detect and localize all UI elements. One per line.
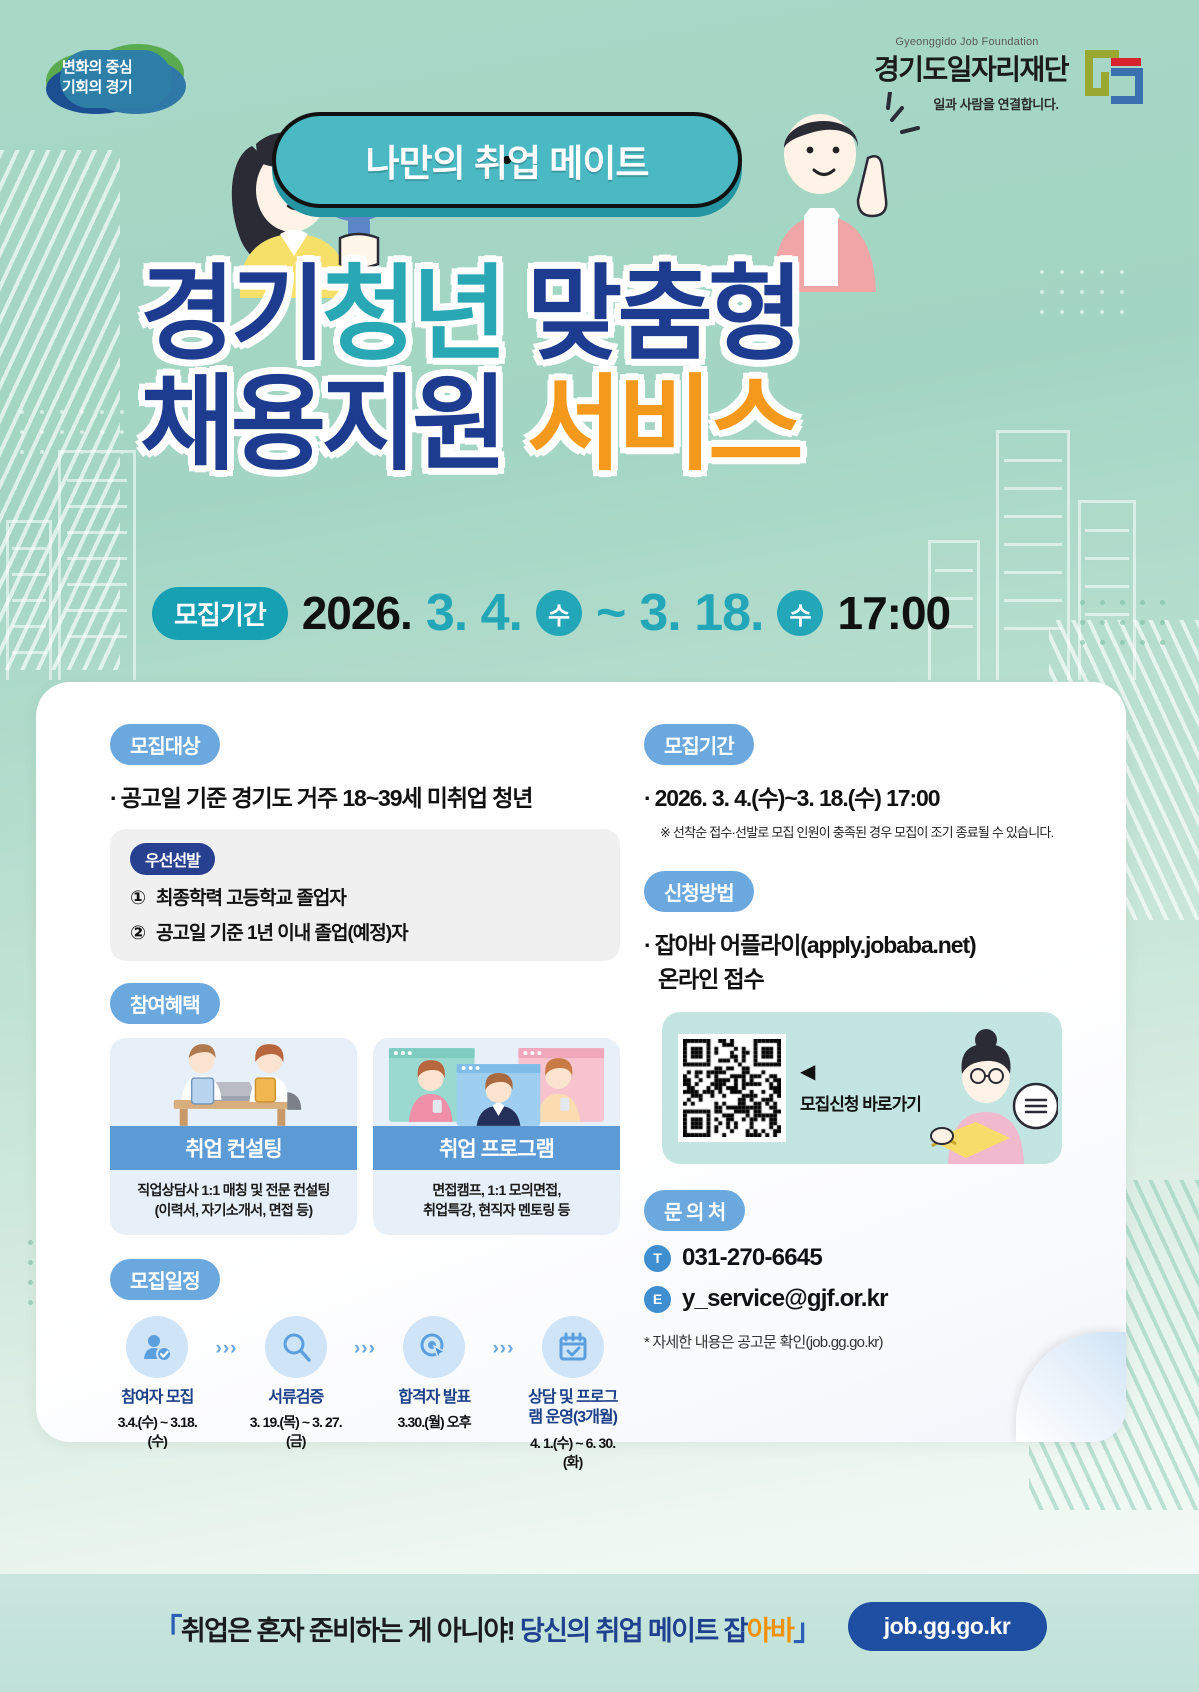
schedule-step-date: 4. 1.(수) ~ 6. 30.(화) bbox=[525, 1434, 620, 1472]
qr-caption: ◀ 모집신청 바로가기 bbox=[800, 1062, 921, 1115]
footer-brand-aba: 아바 bbox=[747, 1616, 793, 1646]
schedule-step-date: 3.30.(월) 오후 bbox=[387, 1413, 482, 1432]
email-icon: E bbox=[644, 1286, 671, 1313]
contact-email-row: E y_service@gjf.or.kr bbox=[644, 1285, 1094, 1313]
headline-speech-bubble: 나만의 취업 메이트 bbox=[272, 112, 742, 208]
benefit-caption-line-1: 직업상담사 1:1 매칭 및 전문 컨설팅 bbox=[116, 1180, 351, 1200]
schedule-step-name: 상담 및 프로그램 운영(3개월) bbox=[525, 1388, 620, 1430]
qr-application-box[interactable]: ◀ 모집신청 바로가기 bbox=[662, 1012, 1062, 1164]
foundation-name-en: Gyeonggido Job Foundation bbox=[841, 36, 1093, 48]
magnifier-icon bbox=[265, 1316, 327, 1378]
schedule-arrow-icon: ››› bbox=[205, 1316, 249, 1360]
apply-bullet: ·잡아바 어플라이(apply.jobaba.net) 온라인 접수 bbox=[644, 926, 1094, 994]
title-part-service: 서비스 bbox=[527, 367, 799, 483]
period-tilde: ~ bbox=[596, 583, 625, 643]
schedule-arrow-icon: ››› bbox=[343, 1316, 387, 1360]
consulting-illustration bbox=[110, 1038, 357, 1126]
period-bullet-text: 2026. 3. 4.(수)~3. 18.(수) 17:00 bbox=[655, 785, 940, 811]
left-column: 모집대상 ·공고일 기준 경기도 거주 18~39세 미취업 청년 우선선발 ①… bbox=[110, 724, 620, 1472]
section-tag-target: 모집대상 bbox=[110, 724, 220, 765]
contact-phone-value: 031-270-6645 bbox=[682, 1244, 822, 1272]
period-start-date: 3. 4. bbox=[426, 583, 522, 643]
foundation-mark-icon bbox=[1081, 46, 1147, 108]
gyeonggi-logo-text: 변화의 중심 기회의 경기 bbox=[62, 58, 132, 99]
period-bullet: ·2026. 3. 4.(수)~3. 18.(수) 17:00 bbox=[644, 779, 1094, 813]
quote-open-mark: 「 bbox=[152, 1614, 180, 1647]
title-line-2: 채용지원 서비스 bbox=[140, 375, 1020, 477]
contact-phone-row: T 031-270-6645 bbox=[644, 1244, 1094, 1272]
schedule-step-name: 참여자 모집 bbox=[110, 1388, 205, 1409]
qr-code[interactable] bbox=[678, 1034, 786, 1142]
priority-item-number: ① bbox=[130, 887, 156, 910]
priority-item-text: 공고일 기준 1년 이내 졸업(예정)자 bbox=[156, 923, 408, 944]
poster-footer: 「취업은 혼자 준비하는 게 아니야! 당신의 취업 메이트 잡아바」 job.… bbox=[0, 1574, 1199, 1692]
section-tag-period: 모집기간 bbox=[644, 724, 754, 765]
target-cursor-icon bbox=[403, 1316, 465, 1378]
target-bullet-text: 공고일 기준 경기도 거주 18~39세 미취업 청년 bbox=[121, 785, 533, 811]
benefit-caption-line-2: (이력서, 자기소개서, 면접 등) bbox=[116, 1200, 351, 1220]
footer-slogan-part1: 취업은 혼자 준비하는 게 아니야! bbox=[181, 1616, 514, 1646]
title-part-gyeonggi: 경기 bbox=[140, 257, 321, 373]
period-note: ※ 선착순 접수·선발로 모집 인원이 충족된 경우 모집이 조기 종료될 수 … bbox=[644, 822, 1094, 841]
schedule-step-date: 3.4.(수) ~ 3.18.(수) bbox=[110, 1413, 205, 1451]
section-tag-priority: 우선선발 bbox=[130, 843, 215, 875]
period-time: 17:00 bbox=[837, 586, 950, 640]
schedule-step-name: 합격자 발표 bbox=[387, 1388, 482, 1409]
apply-section: 신청방법 ·잡아바 어플라이(apply.jobaba.net) 온라인 접수 … bbox=[644, 871, 1094, 1164]
schedule-step-name: 서류검증 bbox=[248, 1388, 343, 1409]
right-column: 모집기간 ·2026. 3. 4.(수)~3. 18.(수) 17:00 ※ 선… bbox=[644, 724, 1094, 1352]
title-line-1: 경기청년 맞춤형 bbox=[140, 265, 1020, 367]
schedule-step: 참여자 모집 3.4.(수) ~ 3.18.(수) bbox=[110, 1316, 205, 1452]
schedule-step: 상담 및 프로그램 운영(3개월) 4. 1.(수) ~ 6. 30.(화) bbox=[525, 1316, 620, 1472]
priority-item-number: ② bbox=[130, 922, 156, 945]
contact-email-value: y_service@gjf.or.kr bbox=[682, 1285, 888, 1313]
content-card: 모집대상 ·공고일 기준 경기도 거주 18~39세 미취업 청년 우선선발 ①… bbox=[36, 682, 1126, 1442]
section-tag-apply: 신청방법 bbox=[644, 871, 754, 912]
qr-label: 모집신청 바로가기 bbox=[800, 1090, 921, 1115]
calendar-check-icon bbox=[542, 1316, 604, 1378]
target-bullet: ·공고일 기준 경기도 거주 18~39세 미취업 청년 bbox=[110, 779, 620, 813]
footer-slogan: 「취업은 혼자 준비하는 게 아니야! 당신의 취업 메이트 잡아바」 bbox=[152, 1605, 821, 1649]
title-part-custom: 맞춤형 bbox=[503, 257, 799, 373]
benefits-section: 참여혜택 bbox=[110, 983, 620, 1235]
priority-item: ①최종학력 고등학교 졸업자 bbox=[130, 883, 600, 910]
user-check-icon bbox=[126, 1316, 188, 1378]
period-year: 2026. bbox=[302, 586, 412, 640]
poster-root: 변화의 중심 기회의 경기 Gyeonggido Job Foundation … bbox=[0, 0, 1199, 1692]
contact-note: * 자세한 내용은 공고문 확인(job.gg.go.kr) bbox=[644, 1331, 1094, 1352]
benefit-card-title: 취업 프로그램 bbox=[373, 1126, 620, 1170]
phone-icon: T bbox=[644, 1245, 671, 1272]
priority-item: ②공고일 기준 1년 이내 졸업(예정)자 bbox=[130, 918, 600, 945]
period-end-date: 3. 18. bbox=[639, 583, 763, 643]
section-tag-contact: 문 의 처 bbox=[644, 1190, 745, 1231]
quote-close-mark: 」 bbox=[793, 1614, 821, 1647]
schedule-section: 모집일정 참여자 모집 3.4.(수) ~ 3.18.(수) bbox=[110, 1259, 620, 1472]
section-tag-schedule: 모집일정 bbox=[110, 1259, 220, 1300]
schedule-step-date: 3. 19.(목) ~ 3. 27.(금) bbox=[248, 1413, 343, 1451]
schedule-step: 합격자 발표 3.30.(월) 오후 bbox=[387, 1316, 482, 1433]
stripe-decoration-left bbox=[0, 150, 120, 670]
online-program-illustration bbox=[373, 1038, 620, 1126]
apply-line-1: 잡아바 어플라이(apply.jobaba.net) bbox=[655, 932, 976, 958]
period-banner-tag: 모집기간 bbox=[152, 587, 288, 640]
schedule-arrow-icon: ››› bbox=[482, 1316, 526, 1360]
benefit-card-title: 취업 컨설팅 bbox=[110, 1126, 357, 1170]
foundation-name-kr: 경기도일자리재단 bbox=[841, 48, 1101, 88]
period-end-weekday-badge: 수 bbox=[777, 590, 823, 636]
contact-section: 문 의 처 T 031-270-6645 E y_service@gjf.or.… bbox=[644, 1190, 1094, 1352]
gyeonggi-logo: 변화의 중심 기회의 경기 bbox=[46, 44, 186, 116]
footer-brand-jab: 잡 bbox=[724, 1616, 747, 1646]
recruitment-period-banner: 모집기간 2026. 3. 4. 수 ~ 3. 18. 수 17:00 bbox=[152, 583, 950, 643]
schedule-steps: 참여자 모집 3.4.(수) ~ 3.18.(수) ››› 서류검증 3. 19… bbox=[110, 1316, 620, 1472]
benefit-card: 취업 프로그램 면접캠프, 1:1 모의면접, 취업특강, 현직자 멘토링 등 bbox=[373, 1038, 620, 1235]
benefit-caption-line-1: 면접캠프, 1:1 모의면접, bbox=[379, 1180, 614, 1200]
benefit-caption-line-2: 취업특강, 현직자 멘토링 등 bbox=[379, 1200, 614, 1220]
poster-title: 경기청년 맞춤형 채용지원 서비스 bbox=[140, 265, 1020, 477]
schedule-step: 서류검증 3. 19.(목) ~ 3. 27.(금) bbox=[248, 1316, 343, 1452]
benefit-card: 취업 컨설팅 직업상담사 1:1 매칭 및 전문 컨설팅 (이력서, 자기소개서… bbox=[110, 1038, 357, 1235]
footer-url-badge[interactable]: job.gg.go.kr bbox=[848, 1602, 1047, 1651]
benefit-card-caption: 직업상담사 1:1 매칭 및 전문 컨설팅 (이력서, 자기소개서, 면접 등) bbox=[110, 1170, 357, 1235]
benefit-card-list: 취업 컨설팅 직업상담사 1:1 매칭 및 전문 컨설팅 (이력서, 자기소개서… bbox=[110, 1038, 620, 1235]
priority-selection-box: 우선선발 ①최종학력 고등학교 졸업자 ②공고일 기준 1년 이내 졸업(예정)… bbox=[110, 829, 620, 961]
bubble-text: 나만의 취업 메이트 bbox=[366, 133, 649, 187]
benefit-card-caption: 면접캠프, 1:1 모의면접, 취업특강, 현직자 멘토링 등 bbox=[373, 1170, 620, 1235]
period-start-weekday-badge: 수 bbox=[536, 590, 582, 636]
dot-decoration-right bbox=[1080, 600, 1165, 645]
title-part-hiring-support: 채용지원 bbox=[140, 367, 527, 483]
footer-slogan-part2: 당신의 취업 메이트 bbox=[514, 1616, 724, 1646]
section-tag-benefits: 참여혜택 bbox=[110, 983, 220, 1024]
character-woman-laptop bbox=[928, 1014, 1058, 1164]
title-part-youth: 청년 bbox=[321, 257, 502, 373]
apply-line-2: 온라인 접수 bbox=[644, 960, 1094, 994]
left-arrow-icon: ◀ bbox=[800, 1062, 921, 1082]
priority-item-text: 최종학력 고등학교 졸업자 bbox=[156, 888, 346, 909]
